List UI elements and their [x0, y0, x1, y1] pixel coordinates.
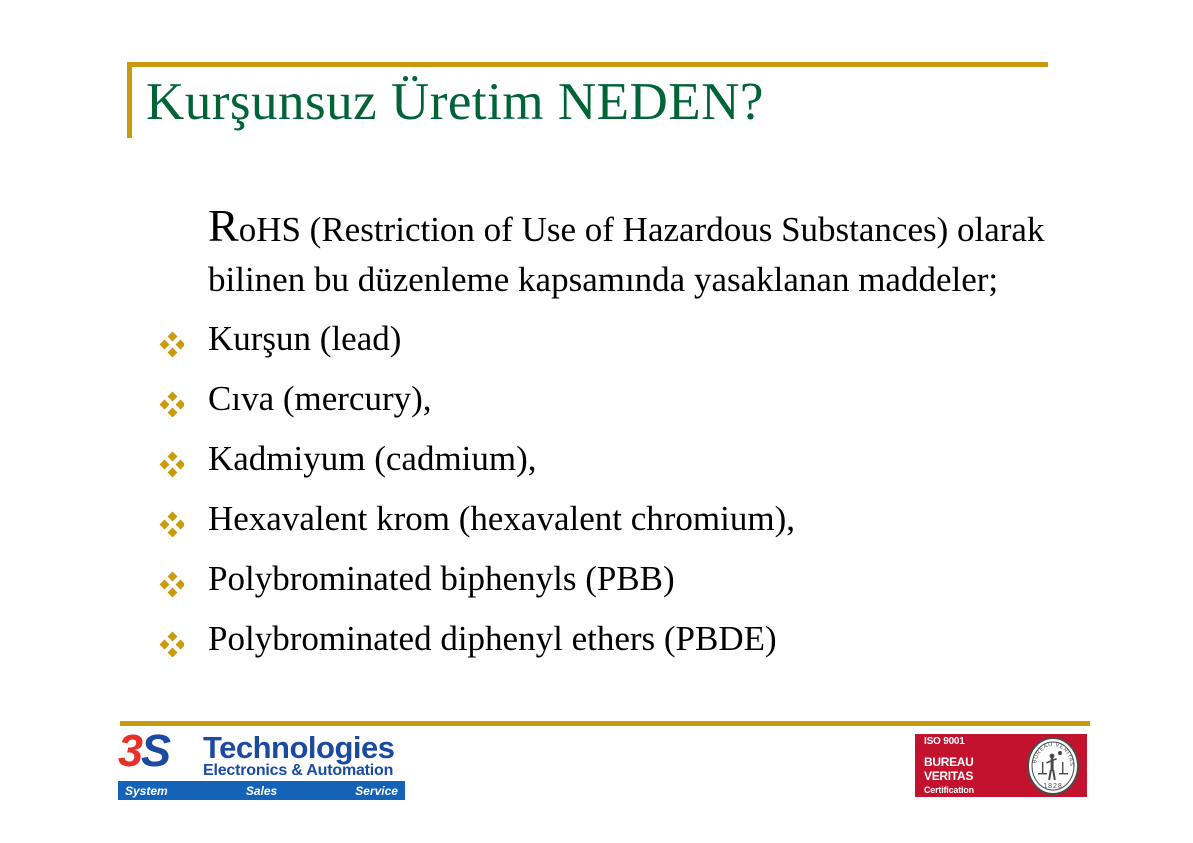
list-item-label: Kurşun (lead) — [208, 319, 401, 358]
intro-paragraph: RoHS (Restriction of Use of Hazardous Su… — [150, 205, 1050, 305]
list-item: Hexavalent krom (hexavalent chromium), — [150, 489, 1050, 549]
slide-title: Kurşunsuz Üretim NEDEN? — [146, 74, 764, 131]
badge-text-block: ISO 9001 BUREAU VERITAS Certification — [915, 736, 1023, 795]
list-item: Polybrominated biphenyls (PBB) — [150, 549, 1050, 609]
logo-service-sales: Sales — [246, 784, 277, 798]
list-item: Cıva (mercury), — [150, 369, 1050, 429]
logo-digit-three: 3 — [118, 725, 141, 776]
logo-service-system: System — [125, 784, 168, 798]
diamond-cluster-icon — [158, 369, 188, 429]
list-item: Kadmiyum (cadmium), — [150, 429, 1050, 489]
list-item: Kurşun (lead) — [150, 309, 1050, 369]
slide-body: RoHS (Restriction of Use of Hazardous Su… — [150, 205, 1050, 669]
badge-seal-year: 1828 — [1043, 783, 1063, 790]
bureau-veritas-seal-icon: BUREAU VERITAS 1828 — [1023, 734, 1083, 797]
logo-service-service: Service — [355, 784, 398, 798]
title-rule-top — [127, 62, 1048, 67]
diamond-cluster-icon — [158, 609, 188, 669]
diamond-cluster-icon — [158, 549, 188, 609]
list-item-label: Cıva (mercury), — [208, 379, 432, 418]
badge-certification-label: Certification — [924, 785, 1023, 795]
slide: Kurşunsuz Üretim NEDEN? RoHS (Restrictio… — [0, 0, 1193, 843]
logo-letter-s: S — [141, 725, 169, 776]
list-item-label: Polybrominated diphenyl ethers (PBDE) — [208, 619, 777, 658]
logo-3s-mark: 3S — [118, 725, 169, 777]
list-item-label: Hexavalent krom (hexavalent chromium), — [208, 499, 795, 538]
banned-substances-list: Kurşun (lead) Cıva (mercury), — [150, 309, 1050, 669]
diamond-cluster-icon — [158, 429, 188, 489]
logo-wordmark-row: 3S Technologies Electronics & Automation — [118, 729, 405, 781]
logo-primary-word: Technologies — [203, 730, 395, 766]
list-item: Polybrominated diphenyl ethers (PBDE) — [150, 609, 1050, 669]
bureau-veritas-badge: ISO 9001 BUREAU VERITAS Certification BU… — [915, 734, 1087, 797]
intro-text: oHS (Restriction of Use of Hazardous Sub… — [208, 210, 1044, 299]
logo-services-bar: System Sales Service — [118, 781, 405, 800]
diamond-cluster-icon — [158, 309, 188, 369]
badge-name-label: BUREAU VERITAS — [924, 755, 1023, 783]
footer-rule — [120, 721, 1090, 726]
badge-iso-label: ISO 9001 — [924, 736, 1023, 747]
logo-secondary-word: Electronics & Automation — [203, 762, 393, 780]
list-item-label: Polybrominated biphenyls (PBB) — [208, 559, 675, 598]
logo-3s-technologies: 3S Technologies Electronics & Automation… — [118, 729, 405, 801]
diamond-cluster-icon — [158, 489, 188, 549]
intro-lead-letter: R — [208, 200, 239, 251]
title-rule-left — [127, 62, 132, 138]
list-item-label: Kadmiyum (cadmium), — [208, 439, 537, 478]
